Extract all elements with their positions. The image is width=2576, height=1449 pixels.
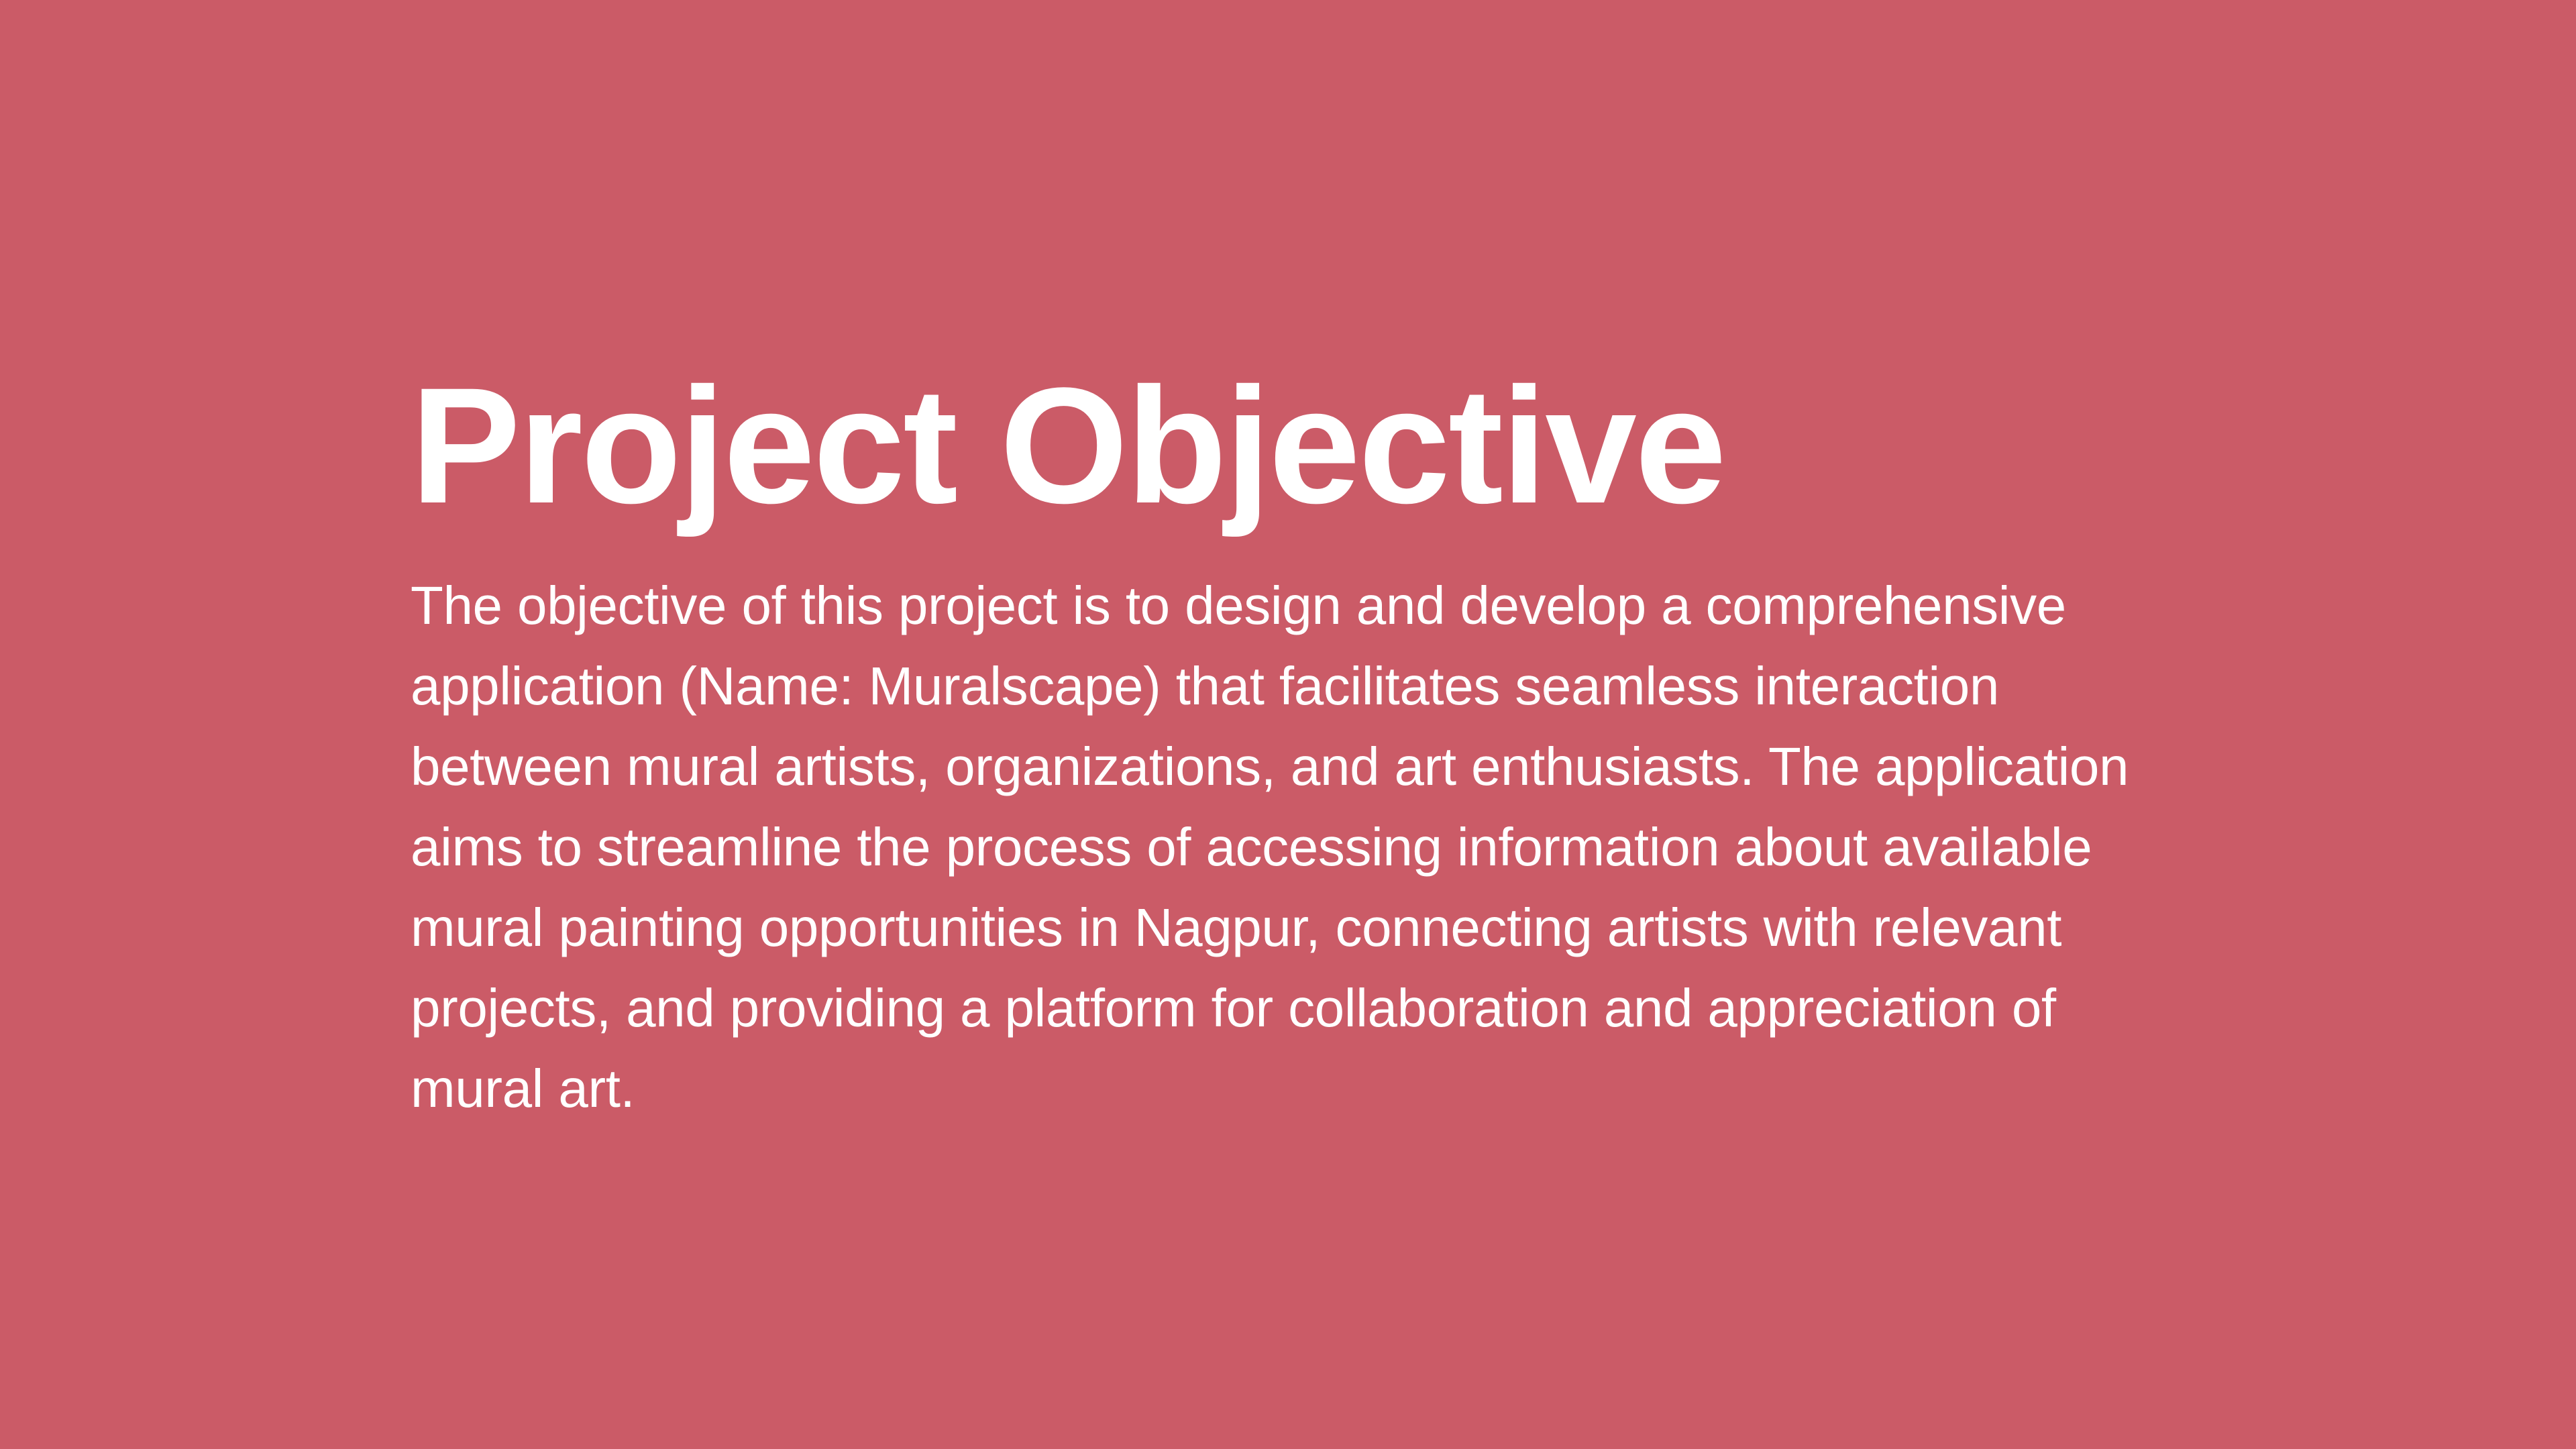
slide-body-paragraph: The objective of this project is to desi…: [411, 566, 2145, 1129]
page-title: Project Objective: [411, 362, 2155, 531]
presentation-slide: Project Objective The objective of this …: [0, 0, 2576, 1449]
slide-content-block: Project Objective The objective of this …: [411, 362, 2155, 1129]
